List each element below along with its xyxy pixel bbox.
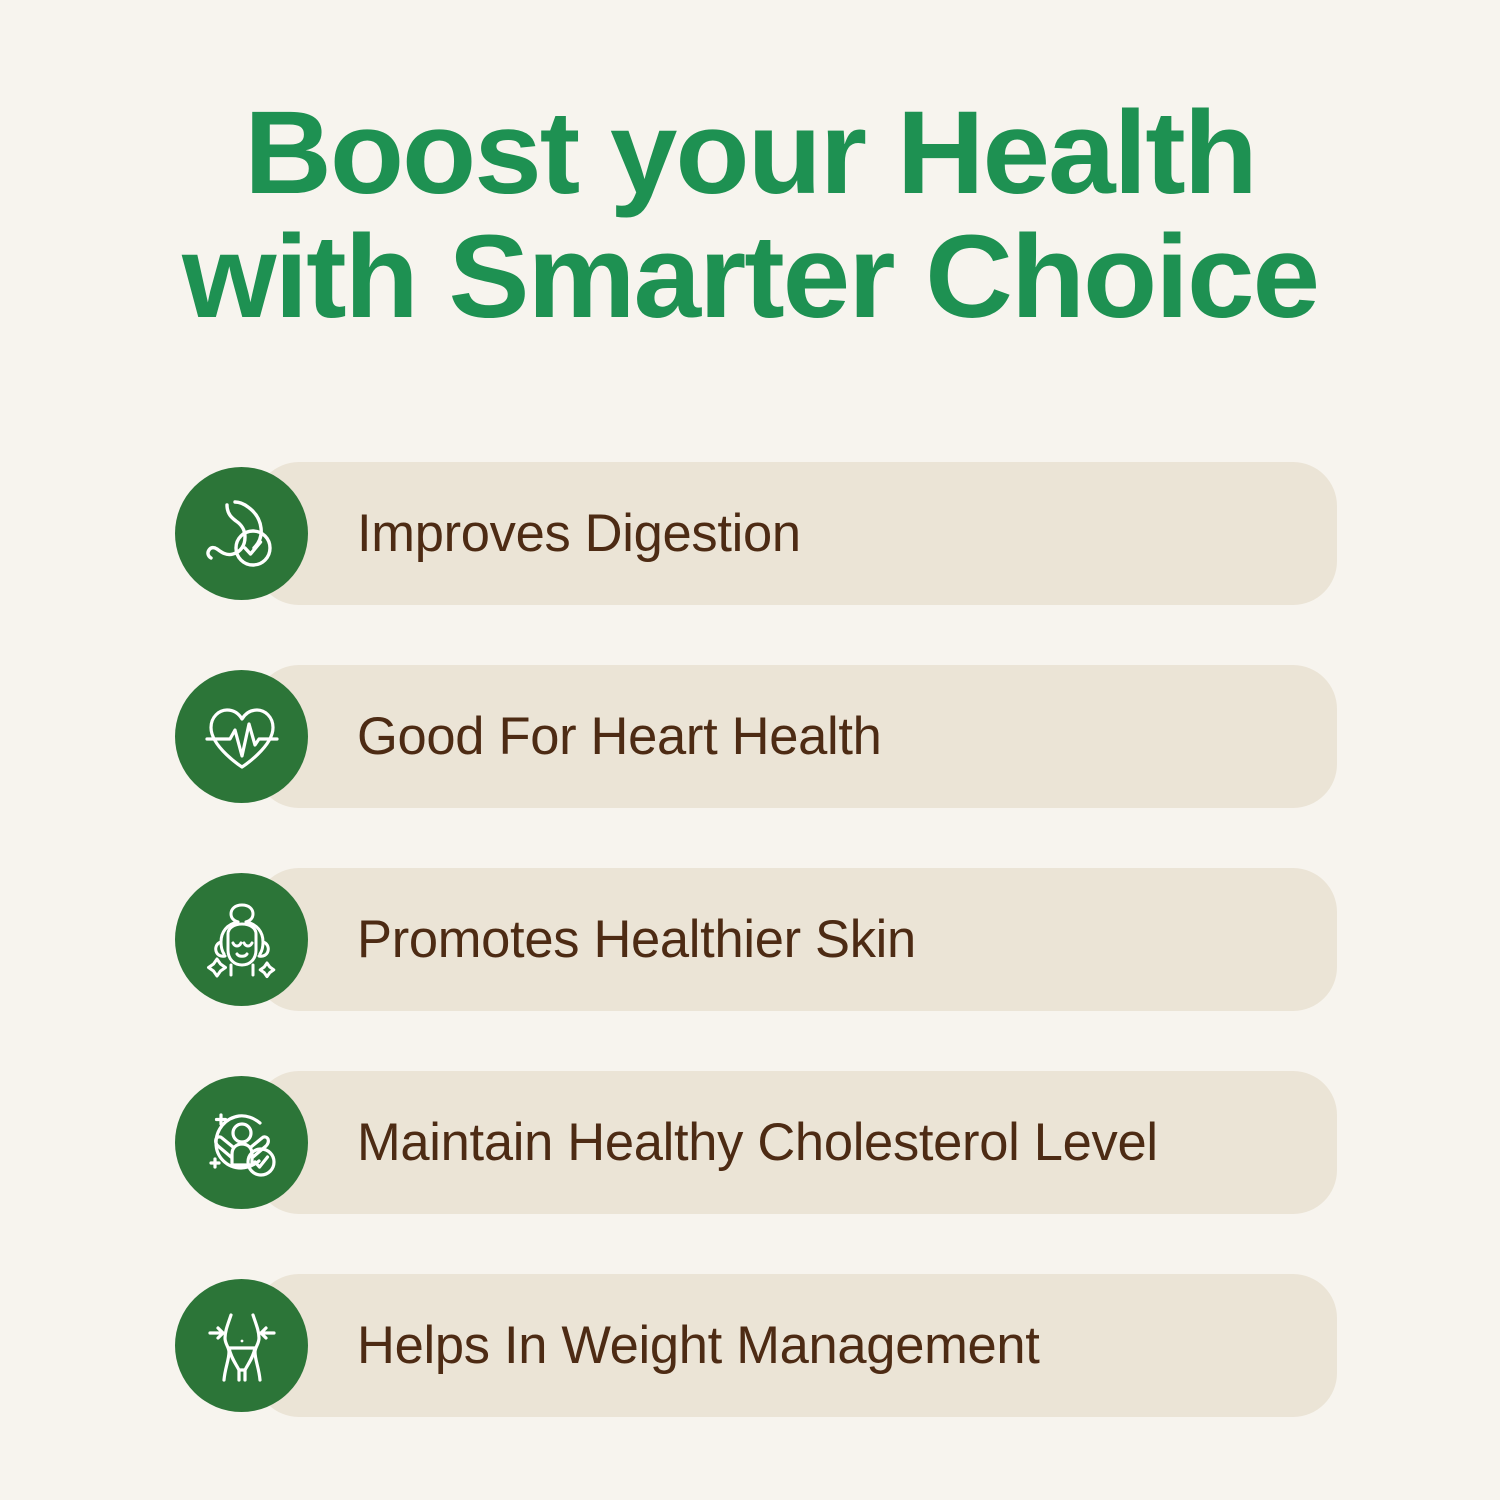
benefit-row: Promotes Healthier Skin <box>0 868 1500 1011</box>
benefit-label: Helps In Weight Management <box>357 1274 1040 1417</box>
slim-waist-arrows-icon <box>175 1279 308 1412</box>
benefit-row: Helps In Weight Management <box>0 1274 1500 1417</box>
benefit-row: Maintain Healthy Cholesterol Level <box>0 1071 1500 1214</box>
benefit-row: Improves Digestion <box>0 462 1500 605</box>
face-sparkle-icon <box>175 873 308 1006</box>
benefit-label: Improves Digestion <box>357 462 801 605</box>
stomach-check-icon <box>175 467 308 600</box>
benefit-label: Maintain Healthy Cholesterol Level <box>357 1071 1158 1214</box>
heart-pulse-icon <box>175 670 308 803</box>
benefits-list: Improves Digestion Good For Heart Health <box>0 462 1500 1417</box>
page-title-line-1: Boost your Health <box>0 96 1500 212</box>
person-wellness-check-icon <box>175 1076 308 1209</box>
benefit-label: Good For Heart Health <box>357 665 882 808</box>
page-title: Boost your Health with Smarter Choice <box>0 96 1500 335</box>
benefit-label: Promotes Healthier Skin <box>357 868 916 1011</box>
infographic-page: Boost your Health with Smarter Choice Im… <box>0 0 1500 1500</box>
benefit-row: Good For Heart Health <box>0 665 1500 808</box>
page-title-line-2: with Smarter Choice <box>0 220 1500 336</box>
